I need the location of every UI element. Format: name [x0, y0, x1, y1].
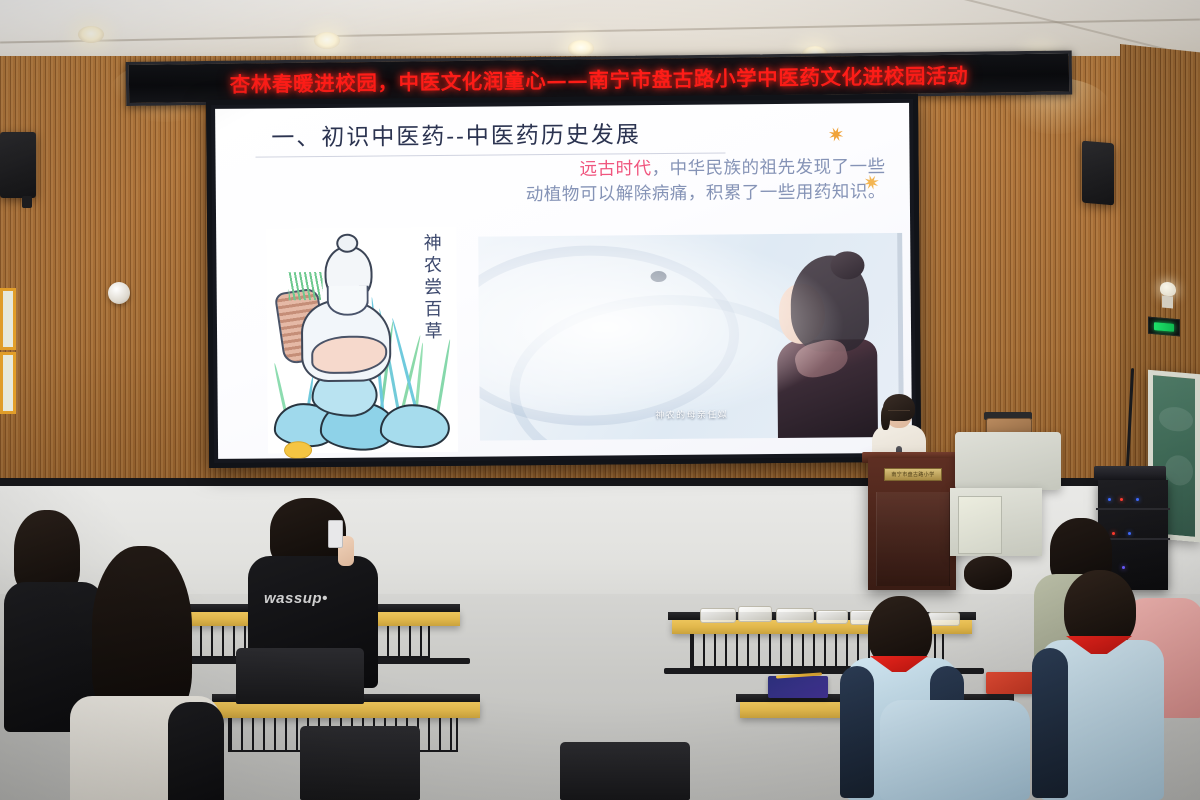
blue-booklet [768, 676, 828, 698]
status-led [1136, 498, 1139, 501]
dome-light [108, 282, 130, 304]
slide-title: 一、初识中医药--中医药历史发展 [271, 115, 641, 152]
student-uniform-sleeve [840, 666, 874, 798]
student-foreground [880, 700, 1030, 800]
slide-body-line1: ，中华民族的祖先发现了一些 [652, 157, 886, 179]
wall-lamp-stem [1162, 296, 1173, 309]
projection-screen: 一、初识中医药--中医药历史发展 ✷ ✷ 远古时代，中华民族的祖先发现了一些 动… [215, 103, 912, 459]
chair-back [300, 726, 420, 800]
artwork-caption: 神农尝百草 [418, 233, 449, 343]
herb-sample-bag [700, 608, 736, 623]
podium-plaque-text: 南宁市盘古路小学 [891, 471, 934, 478]
glasses-icon [888, 410, 910, 417]
cabinet-door [958, 496, 1002, 554]
ceiling-downlight [568, 40, 594, 57]
rack-shelf [1096, 508, 1170, 510]
status-led [1120, 498, 1123, 501]
status-led [1108, 498, 1111, 501]
ink-accent [284, 441, 312, 459]
basket-herbs [289, 272, 323, 300]
chalk-smudge [1165, 454, 1193, 486]
shennong-illustration: 神农尝百草 [266, 227, 458, 454]
chair-back [560, 742, 690, 800]
herb-sample-bag [738, 606, 772, 622]
speaker-mount [22, 196, 32, 208]
audience-adult [70, 546, 220, 800]
student-uniform [880, 700, 1030, 800]
wall-speaker-left [0, 132, 36, 198]
notice-board [0, 352, 16, 414]
student [946, 556, 1028, 676]
podium-plaque: 南宁市盘古路小学 [884, 468, 942, 481]
banner-text: 杏林春暖进校园，中医文化润童心——南宁市盘古路小学中医药文化进校园活动 [230, 59, 969, 98]
jacket-text: wassup• [264, 590, 328, 607]
herb-sample-bag [816, 610, 848, 624]
wall-speaker-right [1082, 141, 1114, 206]
podium-front-panel [876, 492, 950, 586]
notice-board [0, 288, 16, 350]
maple-leaf-icon: ✷ [825, 123, 847, 147]
slide-body-text: 远古时代，中华民族的祖先发现了一些 动植物可以解除病痛，积累了一些用药知识。 [456, 155, 886, 208]
torso-shoulder [168, 702, 224, 800]
chalk-smudge [1159, 406, 1193, 433]
classroom-scene: 杏林春暖进校园，中医文化润童心——南宁市盘古路小学中医药文化进校园活动 一、初识… [0, 0, 1200, 800]
document-visualizer [955, 432, 1061, 490]
phone-icon [328, 520, 343, 548]
shennong-hair-bun [336, 234, 358, 253]
wall-lamp [1160, 281, 1176, 296]
video-still: 神农的母亲任姒 [478, 233, 904, 441]
student-head [964, 556, 1012, 590]
projection-screen-frame: 一、初识中医药--中医药历史发展 ✷ ✷ 远古时代，中华民族的祖先发现了一些 动… [206, 94, 921, 468]
herb-sample-bag [776, 608, 814, 623]
exit-sign-icon [1148, 317, 1180, 337]
ceiling-downlight [78, 26, 104, 43]
slide-body-line2: 动植物可以解除病痛，积累了一些用药知识。 [526, 182, 886, 205]
slide-highlight-text: 远古时代 [580, 159, 652, 180]
student-uniform-sleeve [1032, 648, 1068, 798]
ceiling-downlight [314, 32, 340, 49]
student [1040, 570, 1164, 800]
chair-back [236, 648, 364, 704]
exit-glyph [1154, 322, 1174, 332]
